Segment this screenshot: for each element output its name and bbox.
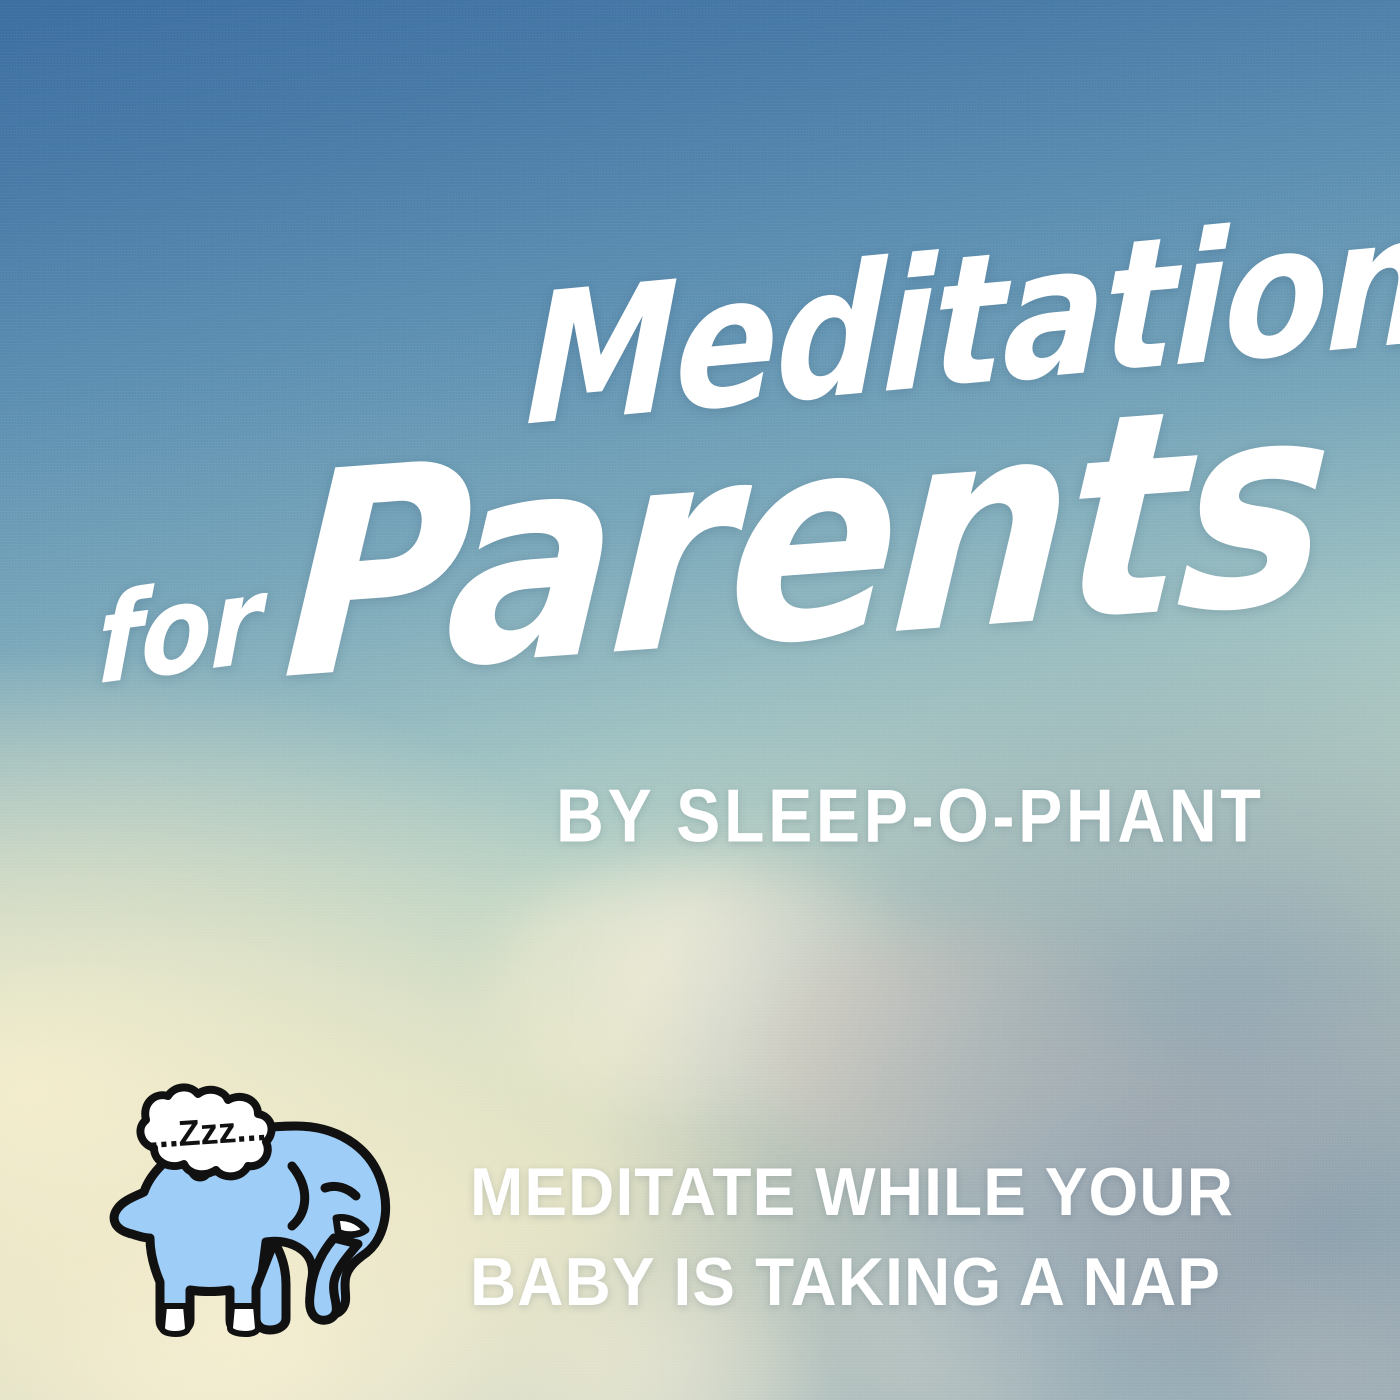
elephant-hoof-mid	[230, 1306, 258, 1334]
tagline-line-1: MEDITATE WHILE YOUR	[470, 1148, 1260, 1238]
tagline-line-2: BABY IS TAKING A NAP	[470, 1238, 1260, 1328]
elephant-hoof-front	[162, 1306, 188, 1334]
podcast-cover-art: Meditation for Parents BY SLEEP-O-PHANT …	[0, 0, 1400, 1400]
sleeping-elephant-mascot: ...Zzz...	[96, 1092, 406, 1347]
thought-bubble-text: ...Zzz...	[147, 1107, 268, 1156]
title-word-parents: Parents	[278, 362, 1334, 720]
byline-author: BY SLEEP-O-PHANT	[556, 779, 1265, 854]
thought-bubble-group: ...Zzz...	[140, 1087, 271, 1178]
title-word-for: for	[96, 558, 262, 702]
tagline: MEDITATE WHILE YOUR BABY IS TAKING A NAP	[470, 1148, 1310, 1328]
